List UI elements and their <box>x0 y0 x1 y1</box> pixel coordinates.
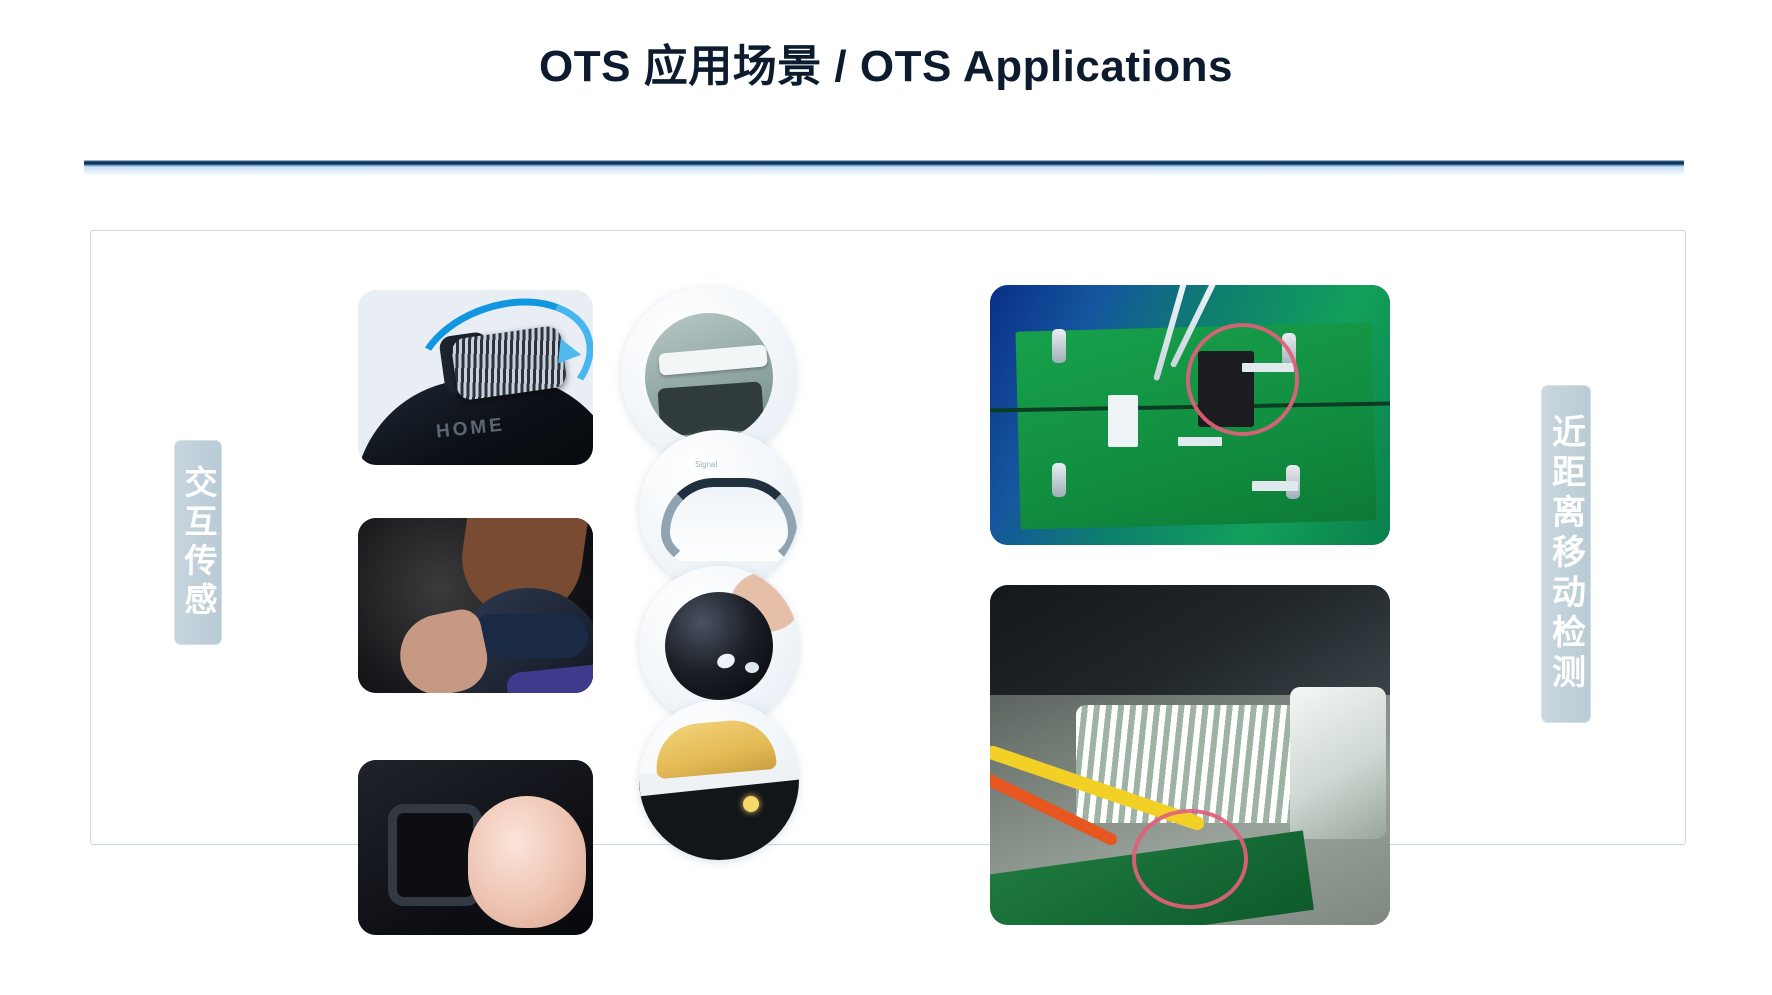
title-divider-glow <box>84 167 1684 176</box>
gold-led-shape <box>743 796 759 812</box>
gold-layer-icon <box>639 700 799 860</box>
pcb-post-2 <box>1052 463 1066 497</box>
rotary-dial-photo: HOME <box>358 290 593 465</box>
bolt-detection-photo <box>990 585 1390 925</box>
pcb-post-1 <box>1052 329 1066 363</box>
fingertip-shape <box>468 796 586 928</box>
pcb-pad-row-1 <box>1178 437 1222 446</box>
pcb-connector-shape <box>1108 395 1138 447</box>
pcb-probe-photo <box>990 285 1390 545</box>
dome-highlight-1 <box>715 651 737 670</box>
dome-shape <box>665 592 773 700</box>
sensor-chip-shape <box>657 381 764 436</box>
gold-lens-shape <box>653 717 777 779</box>
content-frame <box>90 230 1686 845</box>
sensor-disc-shape <box>645 313 773 441</box>
bolt-thread-shape <box>1076 705 1308 823</box>
pcb-pad-row-3 <box>1252 481 1298 491</box>
bolt-dark-band <box>990 585 1390 695</box>
bolt-head-shape <box>1290 687 1386 839</box>
category-label-proximity-motion-detection: 近距离移动检测 <box>1541 385 1591 723</box>
sensor-white-bar-shape <box>658 344 768 375</box>
dome-highlight-2 <box>745 662 759 673</box>
helmet-photo <box>358 518 593 693</box>
title-divider <box>84 160 1684 167</box>
fingertip-photo <box>358 760 593 935</box>
curved-strip-label: Signal <box>695 460 717 469</box>
category-label-interactive-sensing: 交互传感 <box>174 440 222 645</box>
curved-strip-shape <box>661 478 797 570</box>
page-title: OTS 应用场景 / OTS Applications <box>0 30 1772 94</box>
pcb-highlight-circle <box>1186 323 1299 436</box>
helmet-visor-shape <box>470 614 588 658</box>
bolt-highlight-circle <box>1132 809 1248 909</box>
